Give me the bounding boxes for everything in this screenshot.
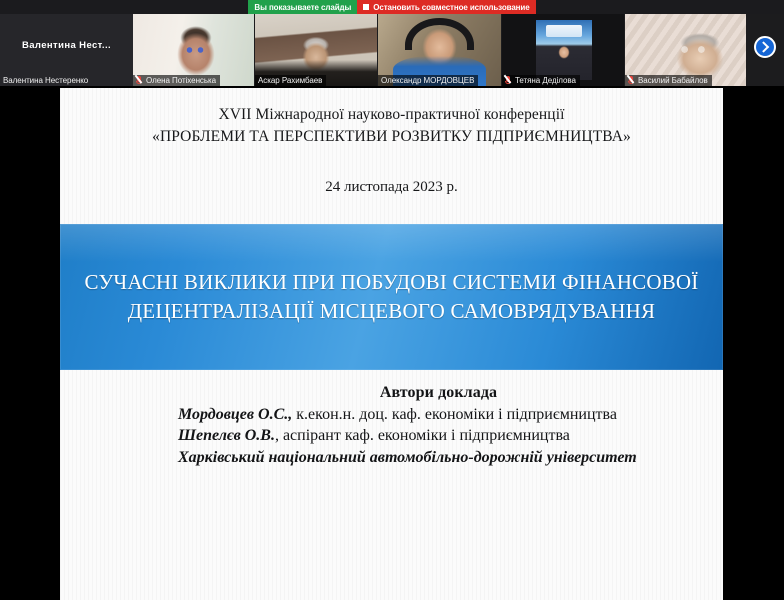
participant-name-bar: Аскар Рахимбаев — [255, 75, 326, 86]
sharing-status-chip: Вы показываете слайды — [248, 0, 357, 14]
next-participants-arrow-icon[interactable] — [754, 36, 776, 58]
stop-square-icon — [363, 4, 369, 10]
screen-root: Вы показываете слайды Остановить совмест… — [0, 0, 784, 600]
participant-name: Тетяна Дедiлова — [515, 76, 576, 85]
author-2-name: Шепелєв О.В. — [178, 427, 275, 444]
participant-tile-valentyna[interactable]: Валентина Нест... Валентина Нестеренко — [0, 14, 133, 86]
participant-name-bar: Олена Потіхенська — [133, 75, 220, 86]
sharing-status-label: Вы показываете слайды — [254, 3, 351, 12]
stop-sharing-label: Остановить совместное использование — [373, 3, 529, 12]
author-2: Шепелєв О.В., аспірант каф. економіки і … — [178, 425, 699, 446]
participant-tile-tetiana[interactable]: Тетяна Дедiлова — [502, 14, 624, 86]
shared-slide: XVII Міжнародної науково-практичної конф… — [60, 88, 723, 600]
participant-tile-askar[interactable]: Аскар Рахимбаев — [255, 14, 377, 86]
page-title: СУЧАСНІ ВИКЛИКИ ПРИ ПОБУДОВІ СИСТЕМИ ФІН… — [60, 268, 723, 326]
conference-line-2: «ПРОБЛЕМИ ТА ПЕРСПЕКТИВИ РОЗВИТКУ ПІДПРИ… — [60, 126, 723, 148]
participant-name-bar: Олександр МОРДОВЦЕВ — [378, 75, 478, 86]
participant-name-bar: Тетяна Дедiлова — [502, 75, 580, 86]
conference-line-1: XVII Міжнародної науково-практичної конф… — [60, 104, 723, 126]
author-1: Мордовцев О.С., к.екон.н. доц. каф. екон… — [178, 404, 699, 425]
stop-sharing-button[interactable]: Остановить совместное использование — [357, 0, 535, 14]
participant-tile-olena[interactable]: Олена Потіхенська — [133, 14, 254, 86]
author-1-name: Мордовцев О.С., — [178, 406, 292, 423]
participant-name: Олександр МОРДОВЦЕВ — [381, 76, 474, 85]
microphone-muted-icon — [136, 76, 143, 85]
authors-heading: Автори доклада — [178, 384, 699, 402]
screen-share-bar: Вы показываете слайды Остановить совмест… — [0, 0, 784, 14]
participant-tile-vasyl[interactable]: Василий Бабайлов — [625, 14, 746, 86]
microphone-muted-icon — [628, 76, 635, 85]
authors-block: Автори доклада Мордовцев О.С., к.екон.н.… — [178, 384, 699, 468]
chevron-right-icon — [758, 41, 769, 52]
participant-name: Валентина Нестеренко — [3, 76, 88, 85]
participant-tile-oleksandr[interactable]: Олександр МОРДОВЦЕВ — [378, 14, 501, 86]
participant-name: Василий Бабайлов — [638, 76, 708, 85]
author-1-role: к.екон.н. доц. каф. економіки і підприєм… — [292, 406, 617, 423]
participant-name-bar: Валентина Нестеренко — [0, 75, 92, 86]
author-2-role: , аспірант каф. економіки і підприємницт… — [275, 427, 570, 444]
slide-header: XVII Міжнародної науково-практичної конф… — [60, 88, 723, 149]
slide-title-banner: СУЧАСНІ ВИКЛИКИ ПРИ ПОБУДОВІ СИСТЕМИ ФІН… — [60, 224, 723, 370]
participant-name-bar: Василий Бабайлов — [625, 75, 712, 86]
microphone-muted-icon — [505, 76, 512, 85]
organization: Харківський національний автомобільно-до… — [178, 447, 699, 468]
participant-name: Олена Потіхенська — [146, 76, 216, 85]
avatar: Валентина Нест... — [0, 40, 133, 51]
participant-name: Аскар Рахимбаев — [258, 76, 322, 85]
conference-date: 24 листопада 2023 р. — [60, 179, 723, 196]
participant-filmstrip: Валентина Нест... Валентина Нестеренко О… — [0, 14, 784, 86]
